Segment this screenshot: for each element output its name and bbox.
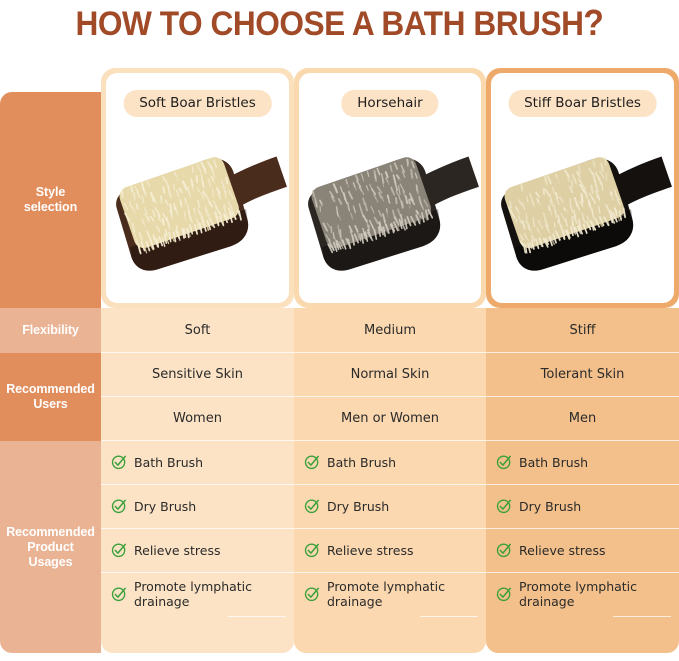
row-separator-partial	[486, 616, 679, 653]
column-card-1[interactable]: Soft Boar Bristles	[101, 68, 294, 308]
brush-photo	[106, 119, 289, 303]
check-circle-icon	[496, 498, 512, 514]
page-title-text: HOW TO CHOOSE A BATH BRUSH	[76, 5, 584, 43]
cell-usage-2: Dry Brush	[101, 484, 294, 528]
cell-usage-3: Relieve stress	[486, 528, 679, 572]
usage-label: Bath Brush	[327, 455, 396, 470]
comparison-table: Style selectionFlexibilityRecommended Us…	[0, 63, 679, 653]
sidebar-row-label: Style selection	[24, 185, 77, 215]
brush-image	[300, 131, 480, 291]
usage-label: Promote lymphatic drainage	[327, 579, 486, 609]
brush-photo	[491, 119, 674, 303]
column-card-inner: Stiff Boar Bristles	[491, 73, 674, 303]
cell-usage-1: Bath Brush	[294, 440, 486, 484]
check-circle-icon	[304, 586, 320, 602]
page-title: HOW TO CHOOSE A BATH BRUSH?	[24, 2, 655, 44]
column-body-2: MediumNormal SkinMen or WomenBath BrushD…	[294, 308, 486, 653]
cell-skin: Tolerant Skin	[486, 352, 679, 396]
usage-label: Promote lymphatic drainage	[134, 579, 294, 609]
check-circle-icon	[496, 542, 512, 558]
sidebar-row-3: Recommended Users	[0, 353, 101, 441]
sidebar: Style selectionFlexibilityRecommended Us…	[0, 92, 101, 653]
check-circle-icon	[304, 454, 320, 470]
cell-usage-2: Dry Brush	[294, 484, 486, 528]
cell-gender: Women	[101, 396, 294, 440]
cell-usage-4: Promote lymphatic drainage	[294, 572, 486, 616]
question-mark: ?	[583, 2, 603, 43]
cell-usage-4: Promote lymphatic drainage	[101, 572, 294, 616]
column-card-3[interactable]: Stiff Boar Bristles	[486, 68, 679, 308]
usage-label: Relieve stress	[134, 543, 221, 558]
sidebar-row-4: Recommended Product Usages	[0, 441, 101, 653]
brush-photo	[299, 119, 481, 303]
check-circle-icon	[496, 454, 512, 470]
column-card-inner: Soft Boar Bristles	[106, 73, 289, 303]
usage-label: Relieve stress	[519, 543, 606, 558]
check-circle-icon	[496, 586, 512, 602]
cell-skin: Normal Skin	[294, 352, 486, 396]
sidebar-row-label: Flexibility	[22, 323, 79, 338]
sidebar-row-2: Flexibility	[0, 308, 101, 353]
check-circle-icon	[111, 586, 127, 602]
usage-label: Dry Brush	[519, 499, 581, 514]
cell-usage-4: Promote lymphatic drainage	[486, 572, 679, 616]
cell-usage-1: Bath Brush	[101, 440, 294, 484]
cell-usage-3: Relieve stress	[101, 528, 294, 572]
check-circle-icon	[111, 454, 127, 470]
column-body-3: StiffTolerant SkinMenBath BrushDry Brush…	[486, 308, 679, 653]
brush-image	[108, 131, 288, 291]
sidebar-row-label: Recommended Product Usages	[6, 525, 95, 570]
check-circle-icon	[304, 542, 320, 558]
check-circle-icon	[111, 542, 127, 558]
column-header-1: Soft Boar Bristles	[123, 90, 272, 117]
usage-label: Bath Brush	[519, 455, 588, 470]
column-header-2: Horsehair	[341, 90, 438, 117]
row-separator-partial	[294, 616, 486, 653]
cell-gender: Men	[486, 396, 679, 440]
cell-flexibility: Stiff	[486, 308, 679, 352]
cell-flexibility: Medium	[294, 308, 486, 352]
cell-usage-1: Bath Brush	[486, 440, 679, 484]
row-separator-partial	[101, 616, 294, 653]
sidebar-row-label: Recommended Users	[6, 382, 95, 412]
check-circle-icon	[304, 498, 320, 514]
cell-skin: Sensitive Skin	[101, 352, 294, 396]
check-circle-icon	[111, 498, 127, 514]
column-body-1: SoftSensitive SkinWomenBath BrushDry Bru…	[101, 308, 294, 653]
usage-label: Dry Brush	[327, 499, 389, 514]
brush-image	[493, 131, 673, 291]
sidebar-row-1: Style selection	[0, 92, 101, 308]
column-header-3: Stiff Boar Bristles	[508, 90, 657, 117]
column-card-inner: Horsehair	[299, 73, 481, 303]
cell-usage-2: Dry Brush	[486, 484, 679, 528]
cell-usage-3: Relieve stress	[294, 528, 486, 572]
usage-label: Promote lymphatic drainage	[519, 579, 679, 609]
cell-gender: Men or Women	[294, 396, 486, 440]
usage-label: Bath Brush	[134, 455, 203, 470]
column-card-2[interactable]: Horsehair	[294, 68, 486, 308]
usage-label: Relieve stress	[327, 543, 414, 558]
cell-flexibility: Soft	[101, 308, 294, 352]
usage-label: Dry Brush	[134, 499, 196, 514]
